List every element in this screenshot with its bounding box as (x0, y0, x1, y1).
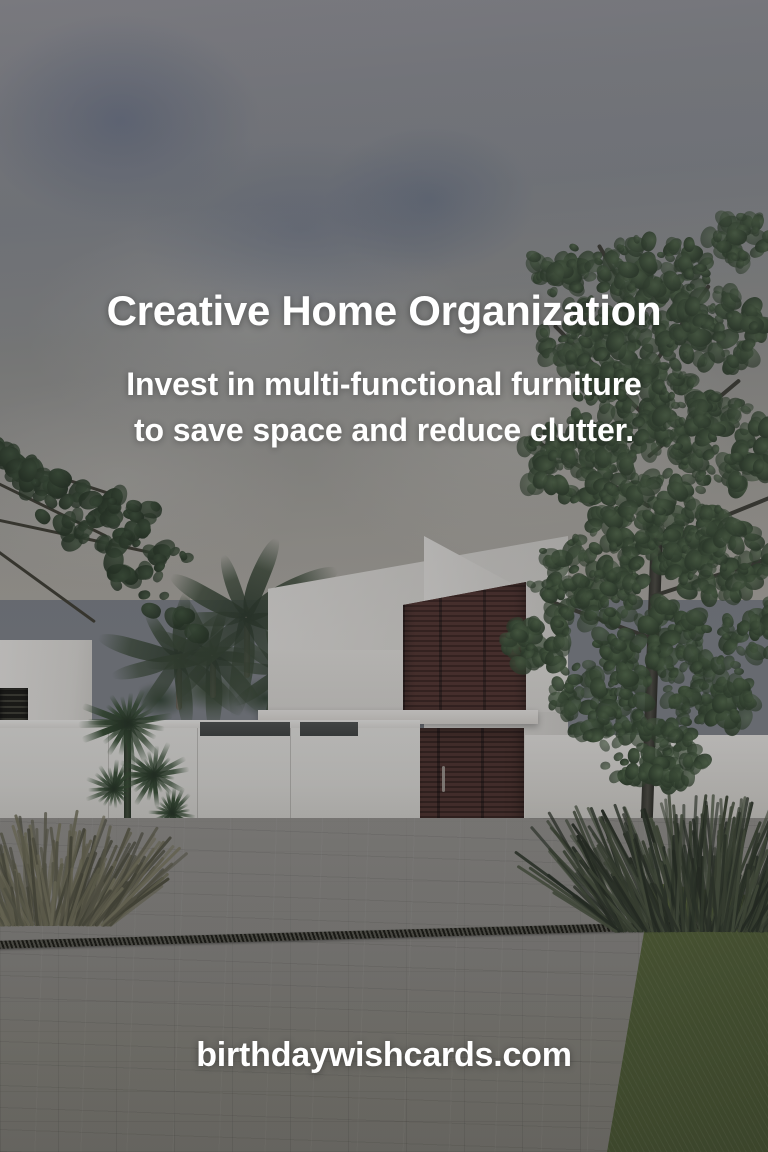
leaf (137, 589, 151, 601)
large-tree-right (470, 205, 768, 855)
gate-shadow-band (300, 722, 358, 736)
ornamental-grass-left (0, 796, 108, 926)
leaf (158, 590, 171, 601)
leaf (564, 350, 575, 364)
ornamental-grass-right (614, 782, 768, 932)
leaf (628, 747, 640, 763)
pinterest-style-card: Creative Home Organization Invest in mul… (0, 0, 768, 1152)
leaf (685, 534, 692, 543)
overhanging-branch-left (0, 430, 200, 650)
leaf (569, 661, 581, 673)
branch-stem (0, 550, 96, 623)
background-photo (0, 0, 768, 1152)
leaf (658, 361, 670, 370)
leaf (174, 608, 195, 624)
leaf (597, 737, 612, 753)
leaf (139, 601, 162, 621)
leaf (599, 761, 610, 769)
leaf (694, 484, 707, 496)
leaf (573, 685, 586, 701)
door-handle (442, 766, 445, 792)
leaf (662, 350, 676, 361)
leaf (594, 446, 611, 469)
leaf (600, 505, 617, 517)
leaf (640, 230, 659, 253)
